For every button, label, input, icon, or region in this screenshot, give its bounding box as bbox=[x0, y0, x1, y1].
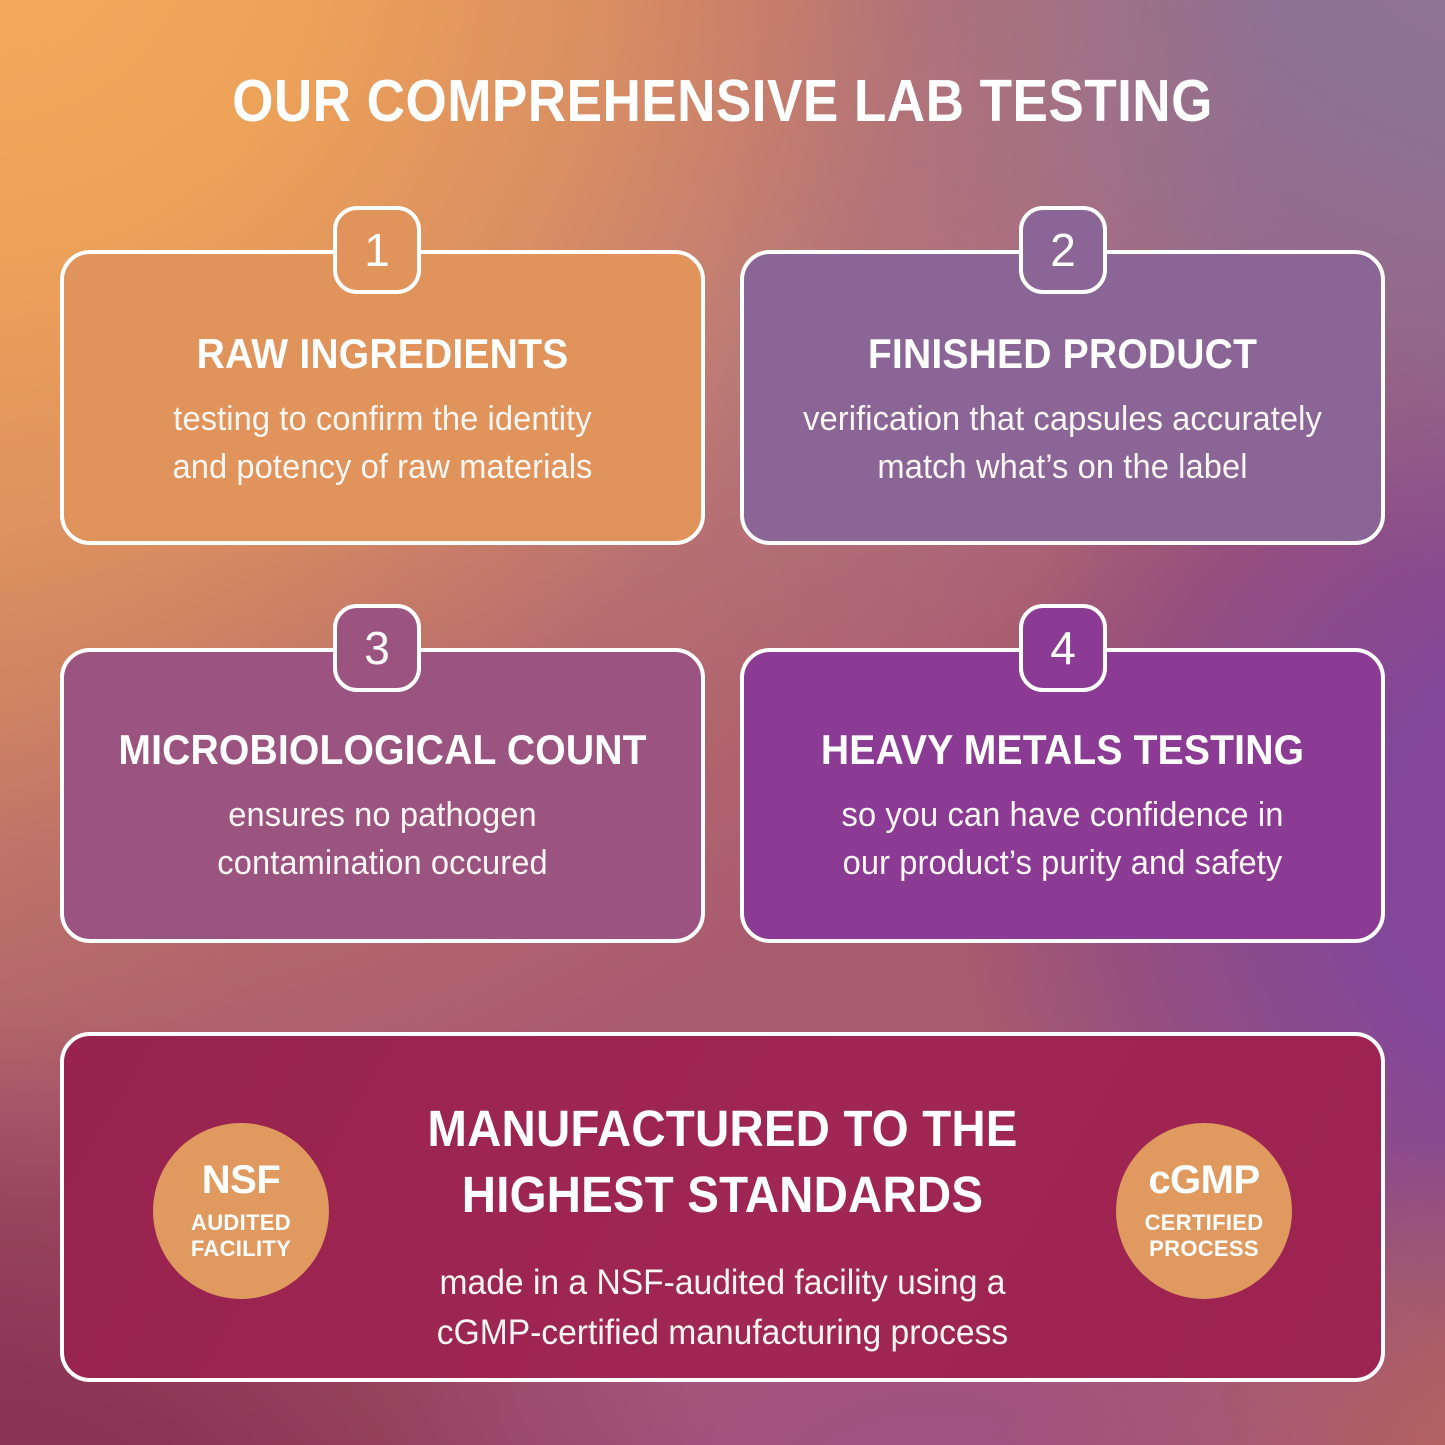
card-3-title: MICROBIOLOGICAL COUNT bbox=[99, 729, 665, 771]
card-4-body-line-2: our product’s purity and safety bbox=[774, 839, 1351, 887]
banner-body-line-1: made in a NSF-audited facility using a bbox=[378, 1258, 1066, 1308]
card-1-number-badge: 1 bbox=[333, 206, 421, 294]
nsf-seal-main-label: NSF bbox=[202, 1160, 281, 1200]
card-2-number: 2 bbox=[1050, 227, 1076, 273]
nsf-seal-sub-label: AUDITED FACILITY bbox=[191, 1210, 291, 1262]
banner-title-line-1: MANUFACTURED TO THE bbox=[417, 1096, 1028, 1162]
card-3-number: 3 bbox=[364, 625, 390, 671]
card-1-body-line-2: and potency of raw materials bbox=[94, 443, 671, 491]
card-4-body: so you can have confidence in our produc… bbox=[774, 791, 1351, 888]
card-4-number: 4 bbox=[1050, 625, 1076, 671]
cgmp-seal-sub-line-2: PROCESS bbox=[1145, 1236, 1264, 1262]
infographic-page: OUR COMPREHENSIVE LAB TESTING RAW INGRED… bbox=[0, 0, 1445, 1445]
card-2-title: FINISHED PRODUCT bbox=[779, 333, 1345, 375]
card-heavy-metals-testing: HEAVY METALS TESTING so you can have con… bbox=[740, 648, 1385, 943]
cgmp-seal-sub-label: CERTIFIED PROCESS bbox=[1145, 1210, 1264, 1262]
banner-body: made in a NSF-audited facility using a c… bbox=[378, 1258, 1066, 1357]
card-4-body-line-1: so you can have confidence in bbox=[774, 791, 1351, 839]
card-2-number-badge: 2 bbox=[1019, 206, 1107, 294]
nsf-audited-facility-seal: NSF AUDITED FACILITY bbox=[153, 1123, 329, 1299]
card-raw-ingredients: RAW INGREDIENTS testing to confirm the i… bbox=[60, 250, 705, 545]
cgmp-seal-sub-line-1: CERTIFIED bbox=[1145, 1210, 1264, 1236]
card-3-body-line-2: contamination occured bbox=[94, 839, 671, 887]
card-1-title: RAW INGREDIENTS bbox=[99, 333, 665, 375]
cgmp-certified-process-seal: cGMP CERTIFIED PROCESS bbox=[1116, 1123, 1292, 1299]
card-2-body-line-2: match what’s on the label bbox=[774, 443, 1351, 491]
card-1-number: 1 bbox=[364, 227, 390, 273]
nsf-seal-sub-line-1: AUDITED bbox=[191, 1210, 291, 1236]
cgmp-seal-main-label: cGMP bbox=[1148, 1160, 1259, 1200]
card-1-body: testing to confirm the identity and pote… bbox=[94, 395, 671, 492]
card-1-body-line-1: testing to confirm the identity bbox=[94, 395, 671, 443]
banner-title: MANUFACTURED TO THE HIGHEST STANDARDS bbox=[417, 1096, 1028, 1229]
page-title: OUR COMPREHENSIVE LAB TESTING bbox=[72, 72, 1373, 131]
banner-manufactured-standards: NSF AUDITED FACILITY MANUFACTURED TO THE… bbox=[60, 1032, 1385, 1382]
card-2-body: verification that capsules accurately ma… bbox=[774, 395, 1351, 492]
card-4-number-badge: 4 bbox=[1019, 604, 1107, 692]
banner-body-line-2: cGMP-certified manufacturing process bbox=[378, 1308, 1066, 1358]
card-finished-product: FINISHED PRODUCT verification that capsu… bbox=[740, 250, 1385, 545]
card-2-body-line-1: verification that capsules accurately bbox=[774, 395, 1351, 443]
card-3-body: ensures no pathogen contamination occure… bbox=[94, 791, 671, 888]
card-microbiological-count: MICROBIOLOGICAL COUNT ensures no pathoge… bbox=[60, 648, 705, 943]
banner-title-line-2: HIGHEST STANDARDS bbox=[417, 1162, 1028, 1228]
card-3-body-line-1: ensures no pathogen bbox=[94, 791, 671, 839]
card-3-number-badge: 3 bbox=[333, 604, 421, 692]
nsf-seal-sub-line-2: FACILITY bbox=[191, 1236, 291, 1262]
card-4-title: HEAVY METALS TESTING bbox=[779, 729, 1345, 771]
